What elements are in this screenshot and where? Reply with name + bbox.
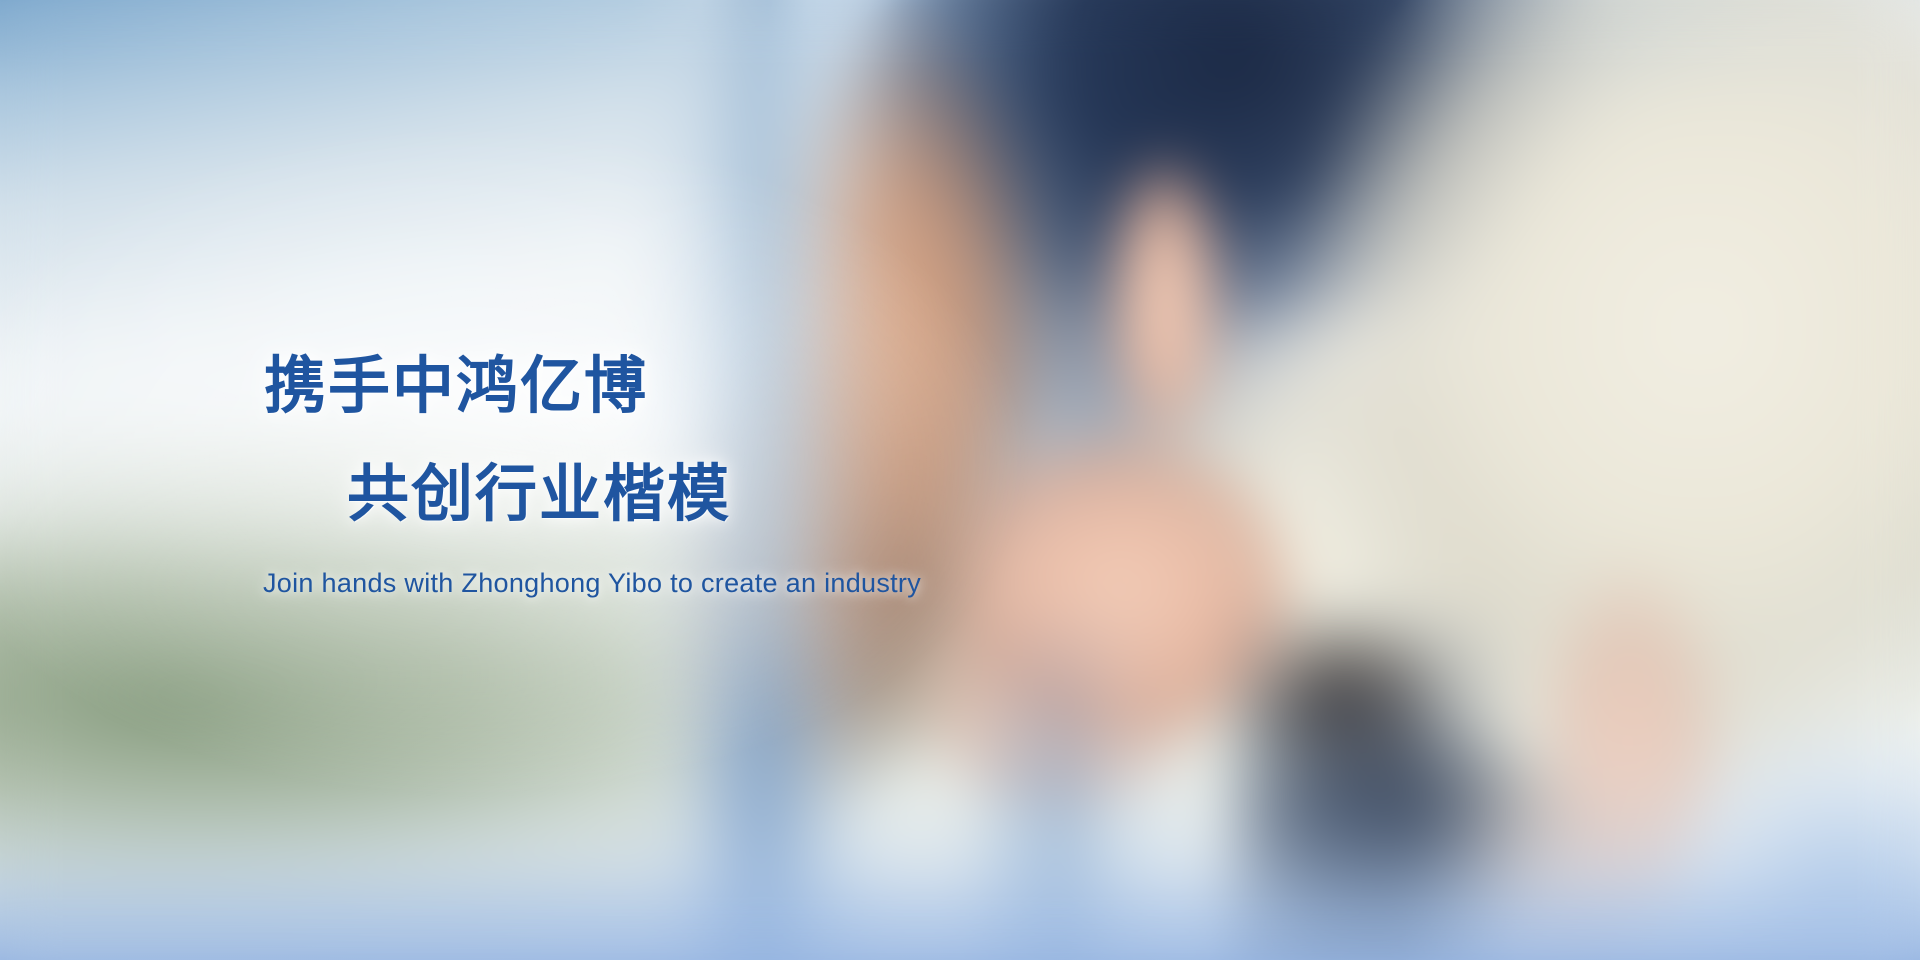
banner-copy-block: 携手中鸿亿博 共创行业楷模 Join hands with Zhonghong … xyxy=(0,0,1920,960)
headline-line-1: 携手中鸿亿博 xyxy=(264,356,648,418)
headline-line-2: 共创行业楷模 xyxy=(347,464,731,526)
banner-subheadline: Join hands with Zhonghong Yibo to create… xyxy=(263,568,921,599)
hero-banner: 携手中鸿亿博 共创行业楷模 Join hands with Zhonghong … xyxy=(0,0,1920,960)
